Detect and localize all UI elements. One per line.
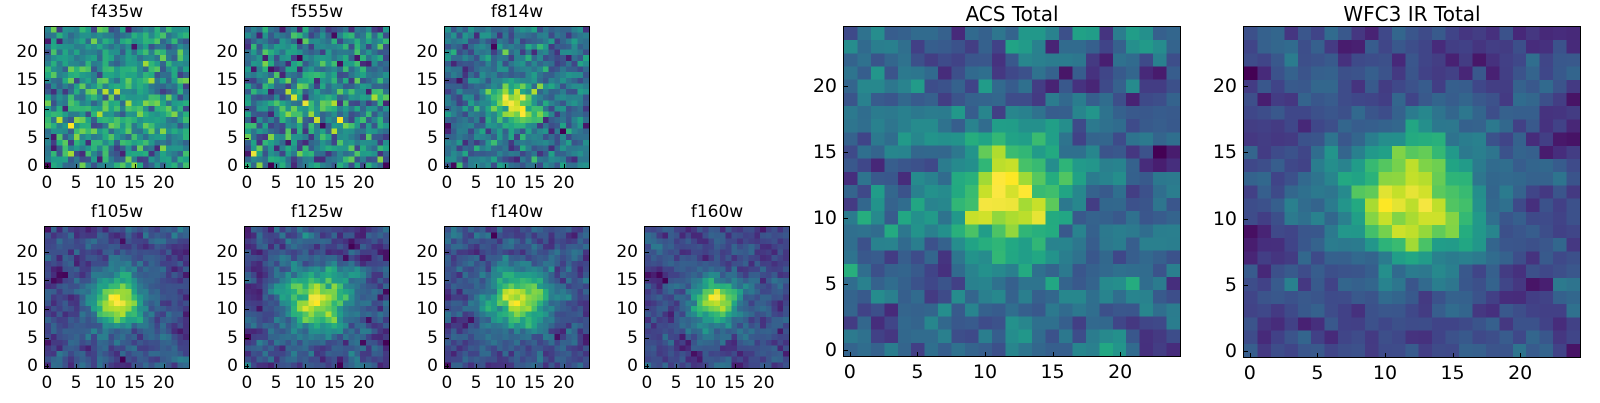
xtick-f555w-20	[364, 164, 365, 169]
xtick-f814w-20	[564, 164, 565, 169]
ytick-acs-total-15	[843, 152, 848, 153]
xtick-acs-total-0	[850, 352, 851, 357]
xticklabel-acs-total-5: 5	[911, 361, 923, 383]
xticklabel-f814w-15: 15	[524, 173, 546, 193]
heatmap-f160w	[644, 226, 790, 369]
yticklabel-wfc3-ir-total-5: 5	[1197, 274, 1237, 296]
xtick-f140w-5	[476, 364, 477, 369]
heatmap-image-f125w	[245, 227, 389, 368]
xtick-f140w-10	[505, 364, 506, 369]
ytick-f125w-0	[244, 366, 249, 367]
xtick-f814w-10	[505, 164, 506, 169]
yticklabel-f140w-0: 0	[398, 356, 438, 376]
yticklabel-wfc3-ir-total-15: 15	[1197, 141, 1237, 163]
xtick-f125w-20	[364, 364, 365, 369]
ytick-f814w-5	[444, 138, 449, 139]
xtick-wfc3-ir-total-10	[1385, 353, 1386, 358]
panel-f435w: f435w0055101015152020	[0, 0, 190, 203]
ytick-f160w-15	[644, 280, 649, 281]
xtick-acs-total-10	[985, 352, 986, 357]
heatmap-image-f105w	[45, 227, 189, 368]
xtick-wfc3-ir-total-0	[1250, 353, 1251, 358]
panel-title-f140w: f140w	[444, 202, 590, 222]
xticklabel-acs-total-0: 0	[844, 361, 856, 383]
ytick-wfc3-ir-total-15	[1243, 152, 1248, 153]
yticklabel-acs-total-20: 20	[797, 75, 837, 97]
xticklabel-f814w-0: 0	[441, 173, 452, 193]
heatmap-image-f435w	[45, 27, 189, 168]
heatmap-image-acs-total	[844, 27, 1180, 356]
panel-title-wfc3-ir-total: WFC3 IR Total	[1243, 2, 1581, 26]
heatmap-f105w	[44, 226, 190, 369]
xticklabel-acs-total-20: 20	[1108, 361, 1132, 383]
xticklabel-f555w-5: 5	[271, 173, 282, 193]
ytick-f555w-0	[244, 166, 249, 167]
yticklabel-f814w-15: 15	[398, 70, 438, 90]
yticklabel-f140w-20: 20	[398, 242, 438, 262]
heatmap-image-f555w	[245, 27, 389, 168]
xtick-f160w-10	[705, 364, 706, 369]
xticklabel-f105w-10: 10	[94, 373, 116, 393]
ytick-f160w-10	[644, 309, 649, 310]
panel-f814w: f814w0055101015152020	[398, 0, 590, 203]
ytick-f140w-10	[444, 309, 449, 310]
xtick-f160w-20	[764, 364, 765, 369]
xticklabel-f435w-15: 15	[124, 173, 146, 193]
panel-f125w: f125w0055101015152020	[198, 200, 390, 403]
yticklabel-f555w-10: 10	[198, 99, 238, 119]
ytick-f105w-5	[44, 338, 49, 339]
yticklabel-acs-total-15: 15	[797, 141, 837, 163]
yticklabel-f140w-15: 15	[398, 270, 438, 290]
ytick-f555w-10	[244, 109, 249, 110]
yticklabel-f435w-10: 10	[0, 99, 38, 119]
xticklabel-f125w-10: 10	[294, 373, 316, 393]
panel-title-f160w: f160w	[644, 202, 790, 222]
ytick-wfc3-ir-total-20	[1243, 86, 1248, 87]
yticklabel-f160w-10: 10	[598, 299, 638, 319]
yticklabel-f814w-5: 5	[398, 128, 438, 148]
yticklabel-f160w-0: 0	[598, 356, 638, 376]
yticklabel-wfc3-ir-total-0: 0	[1197, 340, 1237, 362]
heatmap-image-f140w	[445, 227, 589, 368]
xticklabel-f435w-10: 10	[94, 173, 116, 193]
xticklabel-f814w-10: 10	[494, 173, 516, 193]
ytick-f160w-0	[644, 366, 649, 367]
heatmap-image-wfc3-ir-total	[1244, 27, 1580, 357]
xtick-f125w-15	[335, 364, 336, 369]
xticklabel-f140w-20: 20	[553, 373, 575, 393]
xtick-f555w-5	[276, 164, 277, 169]
ytick-f125w-10	[244, 309, 249, 310]
panel-f160w: f160w0055101015152020	[598, 200, 790, 403]
xticklabel-wfc3-ir-total-0: 0	[1244, 362, 1256, 384]
ytick-f140w-0	[444, 366, 449, 367]
ytick-f160w-20	[644, 252, 649, 253]
ytick-f105w-0	[44, 366, 49, 367]
xtick-wfc3-ir-total-5	[1317, 353, 1318, 358]
xtick-f555w-15	[335, 164, 336, 169]
ytick-f555w-15	[244, 80, 249, 81]
ytick-f555w-20	[244, 52, 249, 53]
panel-f555w: f555w0055101015152020	[198, 0, 390, 203]
xticklabel-f160w-20: 20	[753, 373, 775, 393]
ytick-f105w-10	[44, 309, 49, 310]
xticklabel-f555w-15: 15	[324, 173, 346, 193]
panel-f140w: f140w0055101015152020	[398, 200, 590, 403]
xtick-acs-total-5	[917, 352, 918, 357]
xticklabel-f435w-20: 20	[153, 173, 175, 193]
xticklabel-f105w-0: 0	[41, 373, 52, 393]
xtick-f105w-15	[135, 364, 136, 369]
ytick-f555w-5	[244, 138, 249, 139]
xtick-f160w-15	[735, 364, 736, 369]
yticklabel-f105w-20: 20	[0, 242, 38, 262]
xtick-f814w-15	[535, 164, 536, 169]
ytick-acs-total-0	[843, 350, 848, 351]
yticklabel-f125w-5: 5	[198, 328, 238, 348]
xticklabel-f435w-0: 0	[41, 173, 52, 193]
ytick-f435w-5	[44, 138, 49, 139]
yticklabel-f555w-5: 5	[198, 128, 238, 148]
heatmap-f435w	[44, 26, 190, 169]
yticklabel-f435w-20: 20	[0, 42, 38, 62]
yticklabel-f555w-15: 15	[198, 70, 238, 90]
xticklabel-f105w-5: 5	[71, 373, 82, 393]
xticklabel-f435w-5: 5	[71, 173, 82, 193]
xticklabel-acs-total-15: 15	[1040, 361, 1064, 383]
ytick-f160w-5	[644, 338, 649, 339]
panel-title-acs-total: ACS Total	[843, 2, 1181, 26]
ytick-wfc3-ir-total-10	[1243, 219, 1248, 220]
xticklabel-f555w-20: 20	[353, 173, 375, 193]
heatmap-f140w	[444, 226, 590, 369]
yticklabel-f435w-15: 15	[0, 70, 38, 90]
yticklabel-f160w-20: 20	[598, 242, 638, 262]
heatmap-f555w	[244, 26, 390, 169]
xticklabel-f160w-5: 5	[671, 373, 682, 393]
panel-title-f125w: f125w	[244, 202, 390, 222]
yticklabel-f105w-10: 10	[0, 299, 38, 319]
yticklabel-acs-total-0: 0	[797, 339, 837, 361]
xticklabel-f160w-0: 0	[641, 373, 652, 393]
yticklabel-f435w-5: 5	[0, 128, 38, 148]
xticklabel-f105w-15: 15	[124, 373, 146, 393]
xtick-f105w-5	[76, 364, 77, 369]
xticklabel-f814w-20: 20	[553, 173, 575, 193]
heatmap-wfc3-ir-total	[1243, 26, 1581, 358]
yticklabel-f160w-5: 5	[598, 328, 638, 348]
ytick-f435w-0	[44, 166, 49, 167]
yticklabel-f125w-10: 10	[198, 299, 238, 319]
ytick-acs-total-5	[843, 284, 848, 285]
yticklabel-f125w-20: 20	[198, 242, 238, 262]
ytick-f140w-20	[444, 252, 449, 253]
yticklabel-f125w-15: 15	[198, 270, 238, 290]
xticklabel-wfc3-ir-total-15: 15	[1440, 362, 1464, 384]
xticklabel-acs-total-10: 10	[973, 361, 997, 383]
ytick-f125w-20	[244, 252, 249, 253]
ytick-f814w-20	[444, 52, 449, 53]
ytick-acs-total-20	[843, 86, 848, 87]
xtick-wfc3-ir-total-20	[1520, 353, 1521, 358]
ytick-f814w-10	[444, 109, 449, 110]
panel-title-f435w: f435w	[44, 2, 190, 22]
xtick-f105w-10	[105, 364, 106, 369]
xtick-f125w-5	[276, 364, 277, 369]
xtick-f140w-20	[564, 364, 565, 369]
yticklabel-f105w-5: 5	[0, 328, 38, 348]
xticklabel-f125w-20: 20	[353, 373, 375, 393]
xticklabel-wfc3-ir-total-10: 10	[1373, 362, 1397, 384]
yticklabel-f105w-0: 0	[0, 356, 38, 376]
xticklabel-f125w-0: 0	[241, 373, 252, 393]
ytick-f105w-20	[44, 252, 49, 253]
ytick-f125w-5	[244, 338, 249, 339]
xticklabel-wfc3-ir-total-20: 20	[1508, 362, 1532, 384]
xtick-f814w-5	[476, 164, 477, 169]
yticklabel-f814w-10: 10	[398, 99, 438, 119]
xtick-f435w-10	[105, 164, 106, 169]
heatmap-f125w	[244, 226, 390, 369]
xticklabel-f105w-20: 20	[153, 373, 175, 393]
ytick-f435w-10	[44, 109, 49, 110]
heatmap-acs-total	[843, 26, 1181, 357]
ytick-f435w-20	[44, 52, 49, 53]
yticklabel-f555w-20: 20	[198, 42, 238, 62]
xticklabel-wfc3-ir-total-5: 5	[1311, 362, 1323, 384]
xticklabel-f140w-15: 15	[524, 373, 546, 393]
panel-title-f814w: f814w	[444, 2, 590, 22]
heatmap-image-f160w	[645, 227, 789, 368]
yticklabel-f160w-15: 15	[598, 270, 638, 290]
ytick-wfc3-ir-total-0	[1243, 351, 1248, 352]
yticklabel-f125w-0: 0	[198, 356, 238, 376]
xtick-acs-total-20	[1120, 352, 1121, 357]
ytick-f140w-15	[444, 280, 449, 281]
xtick-f160w-5	[676, 364, 677, 369]
xtick-f105w-20	[164, 364, 165, 369]
panel-f105w: f105w0055101015152020	[0, 200, 190, 403]
heatmap-image-f814w	[445, 27, 589, 168]
panel-title-f105w: f105w	[44, 202, 190, 222]
xticklabel-f140w-5: 5	[471, 373, 482, 393]
xticklabel-f814w-5: 5	[471, 173, 482, 193]
xticklabel-f160w-15: 15	[724, 373, 746, 393]
xticklabel-f140w-10: 10	[494, 373, 516, 393]
yticklabel-f140w-5: 5	[398, 328, 438, 348]
yticklabel-acs-total-10: 10	[797, 207, 837, 229]
xtick-f125w-10	[305, 364, 306, 369]
yticklabel-acs-total-5: 5	[797, 273, 837, 295]
yticklabel-f140w-10: 10	[398, 299, 438, 319]
panel-acs-total: ACS Total0055101015152020	[797, 0, 1181, 391]
xticklabel-f140w-0: 0	[441, 373, 452, 393]
heatmap-f814w	[444, 26, 590, 169]
xticklabel-f555w-0: 0	[241, 173, 252, 193]
ytick-f140w-5	[444, 338, 449, 339]
xticklabel-f125w-15: 15	[324, 373, 346, 393]
xtick-wfc3-ir-total-15	[1453, 353, 1454, 358]
yticklabel-wfc3-ir-total-10: 10	[1197, 208, 1237, 230]
ytick-f125w-15	[244, 280, 249, 281]
ytick-f435w-15	[44, 80, 49, 81]
yticklabel-wfc3-ir-total-20: 20	[1197, 75, 1237, 97]
yticklabel-f814w-0: 0	[398, 156, 438, 176]
xtick-f555w-10	[305, 164, 306, 169]
xticklabel-f555w-10: 10	[294, 173, 316, 193]
xticklabel-f125w-5: 5	[271, 373, 282, 393]
ytick-acs-total-10	[843, 218, 848, 219]
xtick-f435w-20	[164, 164, 165, 169]
xtick-f140w-15	[535, 364, 536, 369]
yticklabel-f555w-0: 0	[198, 156, 238, 176]
xtick-acs-total-15	[1053, 352, 1054, 357]
yticklabel-f814w-20: 20	[398, 42, 438, 62]
yticklabel-f105w-15: 15	[0, 270, 38, 290]
panel-wfc3-ir-total: WFC3 IR Total0055101015152020	[1197, 0, 1581, 392]
ytick-wfc3-ir-total-5	[1243, 285, 1248, 286]
xticklabel-f160w-10: 10	[694, 373, 716, 393]
ytick-f814w-0	[444, 166, 449, 167]
yticklabel-f435w-0: 0	[0, 156, 38, 176]
xtick-f435w-15	[135, 164, 136, 169]
ytick-f105w-15	[44, 280, 49, 281]
panel-title-f555w: f555w	[244, 2, 390, 22]
xtick-f435w-5	[76, 164, 77, 169]
ytick-f814w-15	[444, 80, 449, 81]
figure-canvas: f435w0055101015152020f555w00551010151520…	[0, 0, 1600, 400]
